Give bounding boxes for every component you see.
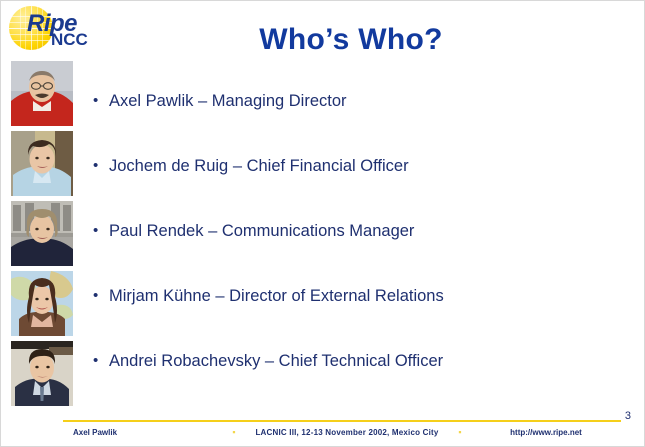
list-item-label: Andrei Robachevsky – Chief Technical Off…	[109, 349, 443, 373]
logo-word-ncc: NCC	[51, 31, 88, 48]
portrait-mirjam-kuhne	[11, 271, 73, 336]
list-item-label: Jochem de Ruig – Chief Financial Officer	[109, 154, 409, 178]
portrait-jochem-de-ruig	[11, 131, 73, 196]
footer-author: Axel Pawlik	[63, 428, 223, 437]
portrait-axel-pawlik	[11, 61, 73, 126]
bullet-icon: •	[93, 89, 109, 113]
list-item: • Mirjam Kühne – Director of External Re…	[93, 284, 633, 349]
slide-footer: Axel Pawlik ▪ LACNIC III, 12-13 November…	[63, 427, 621, 437]
portrait-andrei-robachevsky	[11, 341, 73, 406]
ripe-ncc-logo: Ripe NCC	[7, 3, 99, 55]
portrait-strip	[11, 61, 73, 411]
presentation-slide: Ripe NCC Who’s Who?	[0, 0, 645, 447]
footer-event: LACNIC III, 12-13 November 2002, Mexico …	[245, 428, 449, 437]
footer-separator-icon: ▪	[223, 427, 245, 437]
page-title: Who’s Who?	[101, 23, 601, 57]
people-list: • Axel Pawlik – Managing Director • Joch…	[93, 89, 633, 414]
list-item-label: Mirjam Kühne – Director of External Rela…	[109, 284, 444, 308]
footer-url[interactable]: http://www.ripe.net	[471, 428, 621, 437]
bullet-icon: •	[93, 284, 109, 308]
page-number: 3	[625, 410, 631, 422]
list-item: • Jochem de Ruig – Chief Financial Offic…	[93, 154, 633, 219]
footer-divider	[63, 420, 621, 422]
bullet-icon: •	[93, 349, 109, 373]
footer-separator-icon: ▪	[449, 427, 471, 437]
list-item: • Andrei Robachevsky – Chief Technical O…	[93, 349, 633, 414]
bullet-icon: •	[93, 154, 109, 178]
list-item: • Axel Pawlik – Managing Director	[93, 89, 633, 154]
bullet-icon: •	[93, 219, 109, 243]
list-item-label: Axel Pawlik – Managing Director	[109, 89, 347, 113]
list-item-label: Paul Rendek – Communications Manager	[109, 219, 414, 243]
portrait-paul-rendek	[11, 201, 73, 266]
list-item: • Paul Rendek – Communications Manager	[93, 219, 633, 284]
